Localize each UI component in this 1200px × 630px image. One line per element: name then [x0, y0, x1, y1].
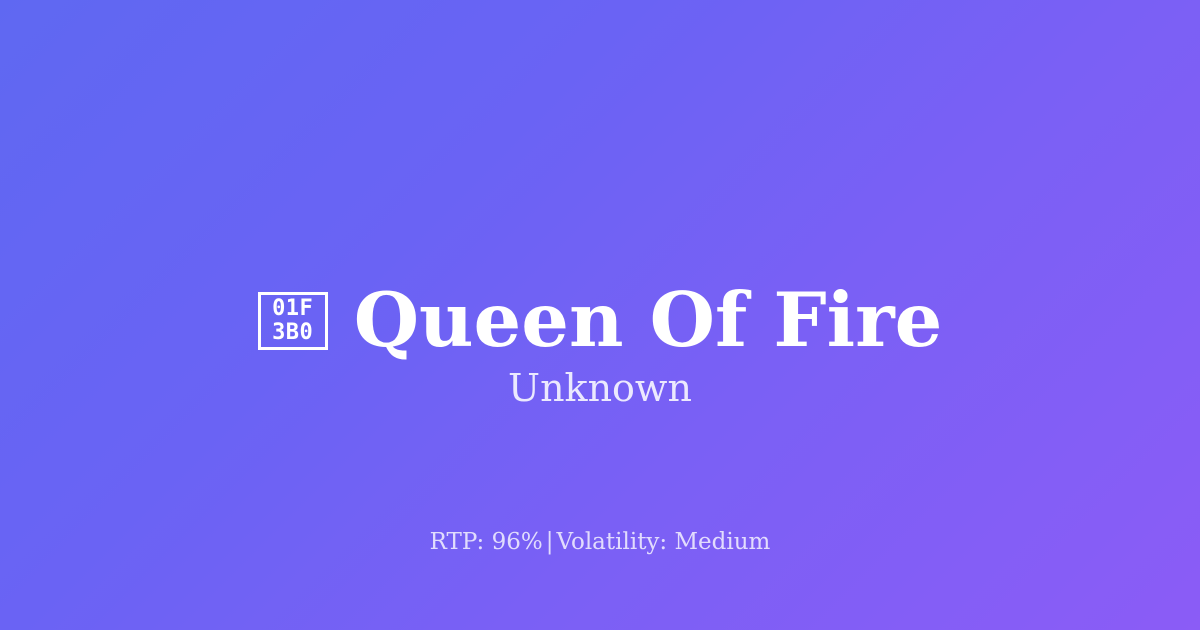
og-share-card: 01F 3B0 Queen Of Fire Unknown RTP: 96%|V… — [0, 0, 1200, 630]
slot-machine-emoji-icon: 01F 3B0 — [258, 292, 328, 350]
provider-label: Unknown — [0, 366, 1200, 410]
tofu-hex-row-top: 01F — [272, 297, 313, 321]
tofu-hex-row-bottom: 3B0 — [272, 321, 313, 345]
rtp-value: RTP: 96% — [430, 529, 543, 555]
meta-separator: | — [543, 529, 557, 555]
volatility-value: Volatility: Medium — [556, 529, 770, 555]
game-meta-line: RTP: 96%|Volatility: Medium — [0, 528, 1200, 556]
page-title: Queen Of Fire — [354, 283, 943, 358]
